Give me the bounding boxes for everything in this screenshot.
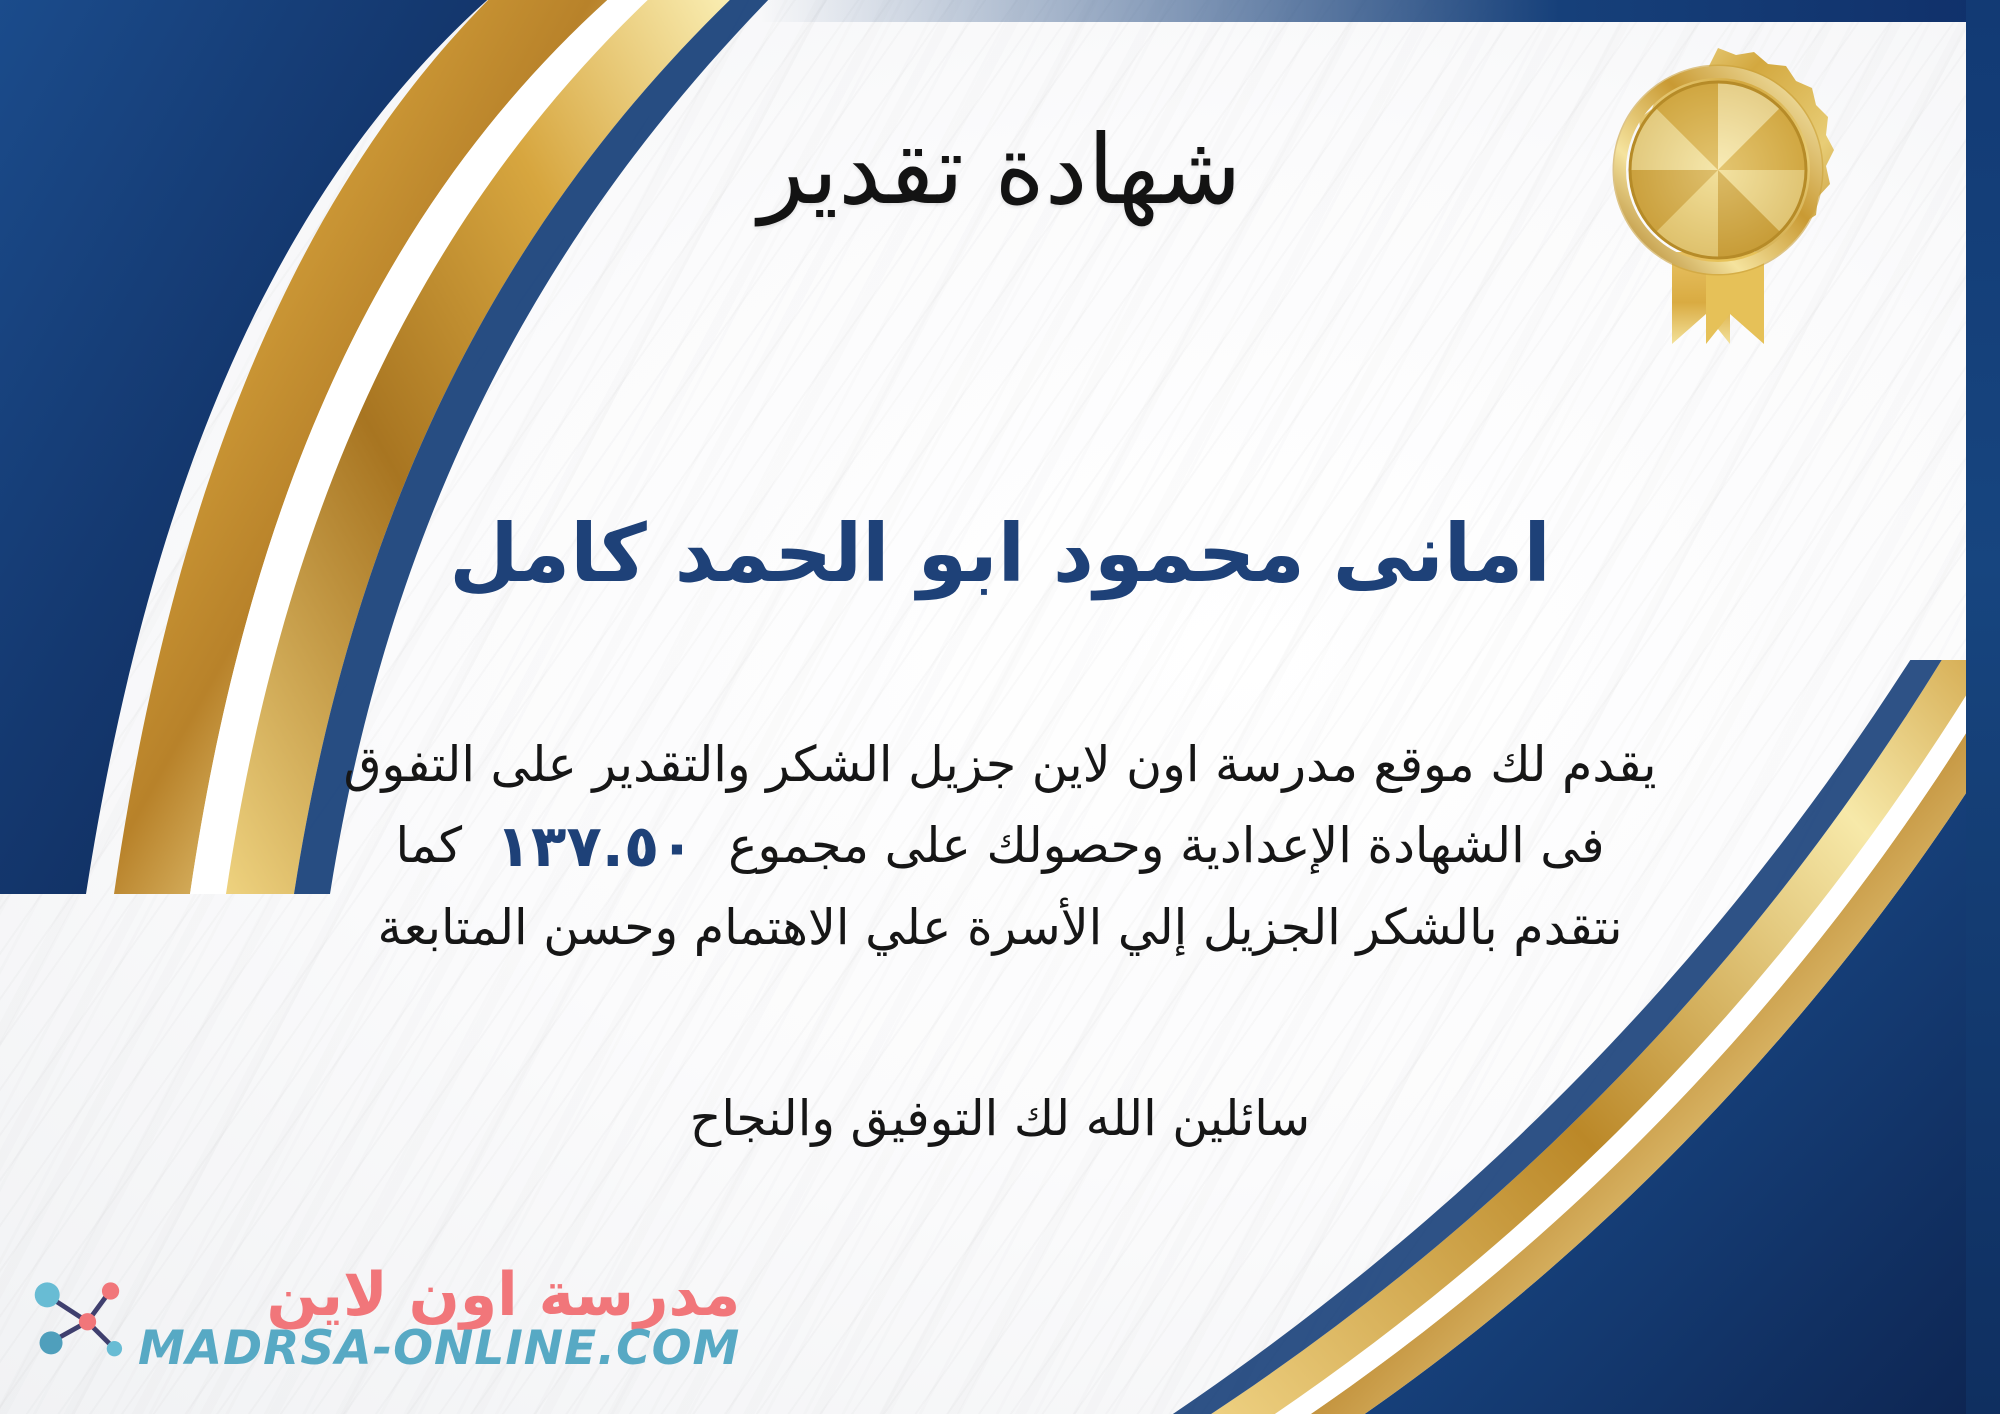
body-line-2-prefix: فى الشهادة الإعدادية وحصولك على مجموع <box>728 817 1604 874</box>
certificate-canvas: شهادة تقدير امانى محمود ابو الحمد كامل ي… <box>0 0 2000 1414</box>
certificate-content: شهادة تقدير امانى محمود ابو الحمد كامل ي… <box>0 0 2000 1414</box>
body-line-2: فى الشهادة الإعدادية وحصولك على مجموع ١٣… <box>130 802 1870 890</box>
brand-logo-text: مدرسة اون لاين MADRSA-ONLINE.COM <box>138 1265 740 1372</box>
brand-name-arabic: مدرسة اون لاين <box>138 1265 740 1325</box>
certificate-title: شهادة تقدير <box>0 118 2000 224</box>
closing-wish-line: سائلين الله لك التوفيق والنجاح <box>0 1090 2000 1147</box>
brand-name-english: MADRSA-ONLINE.COM <box>138 1325 740 1372</box>
network-nodes-icon <box>28 1268 124 1364</box>
brand-logo[interactable]: مدرسة اون لاين MADRSA-ONLINE.COM <box>28 1265 740 1372</box>
body-line-2-suffix: كما <box>395 817 462 874</box>
body-line-1: يقدم لك موقع مدرسة اون لاين جزيل الشكر و… <box>130 728 1870 802</box>
body-line-3: نتقدم بالشكر الجزيل إلي الأسرة علي الاهت… <box>130 891 1870 965</box>
total-score-value: ١٣٧.٥٠ <box>478 802 713 890</box>
student-name: امانى محمود ابو الحمد كامل <box>0 508 2000 600</box>
certificate-body: يقدم لك موقع مدرسة اون لاين جزيل الشكر و… <box>130 728 1870 965</box>
